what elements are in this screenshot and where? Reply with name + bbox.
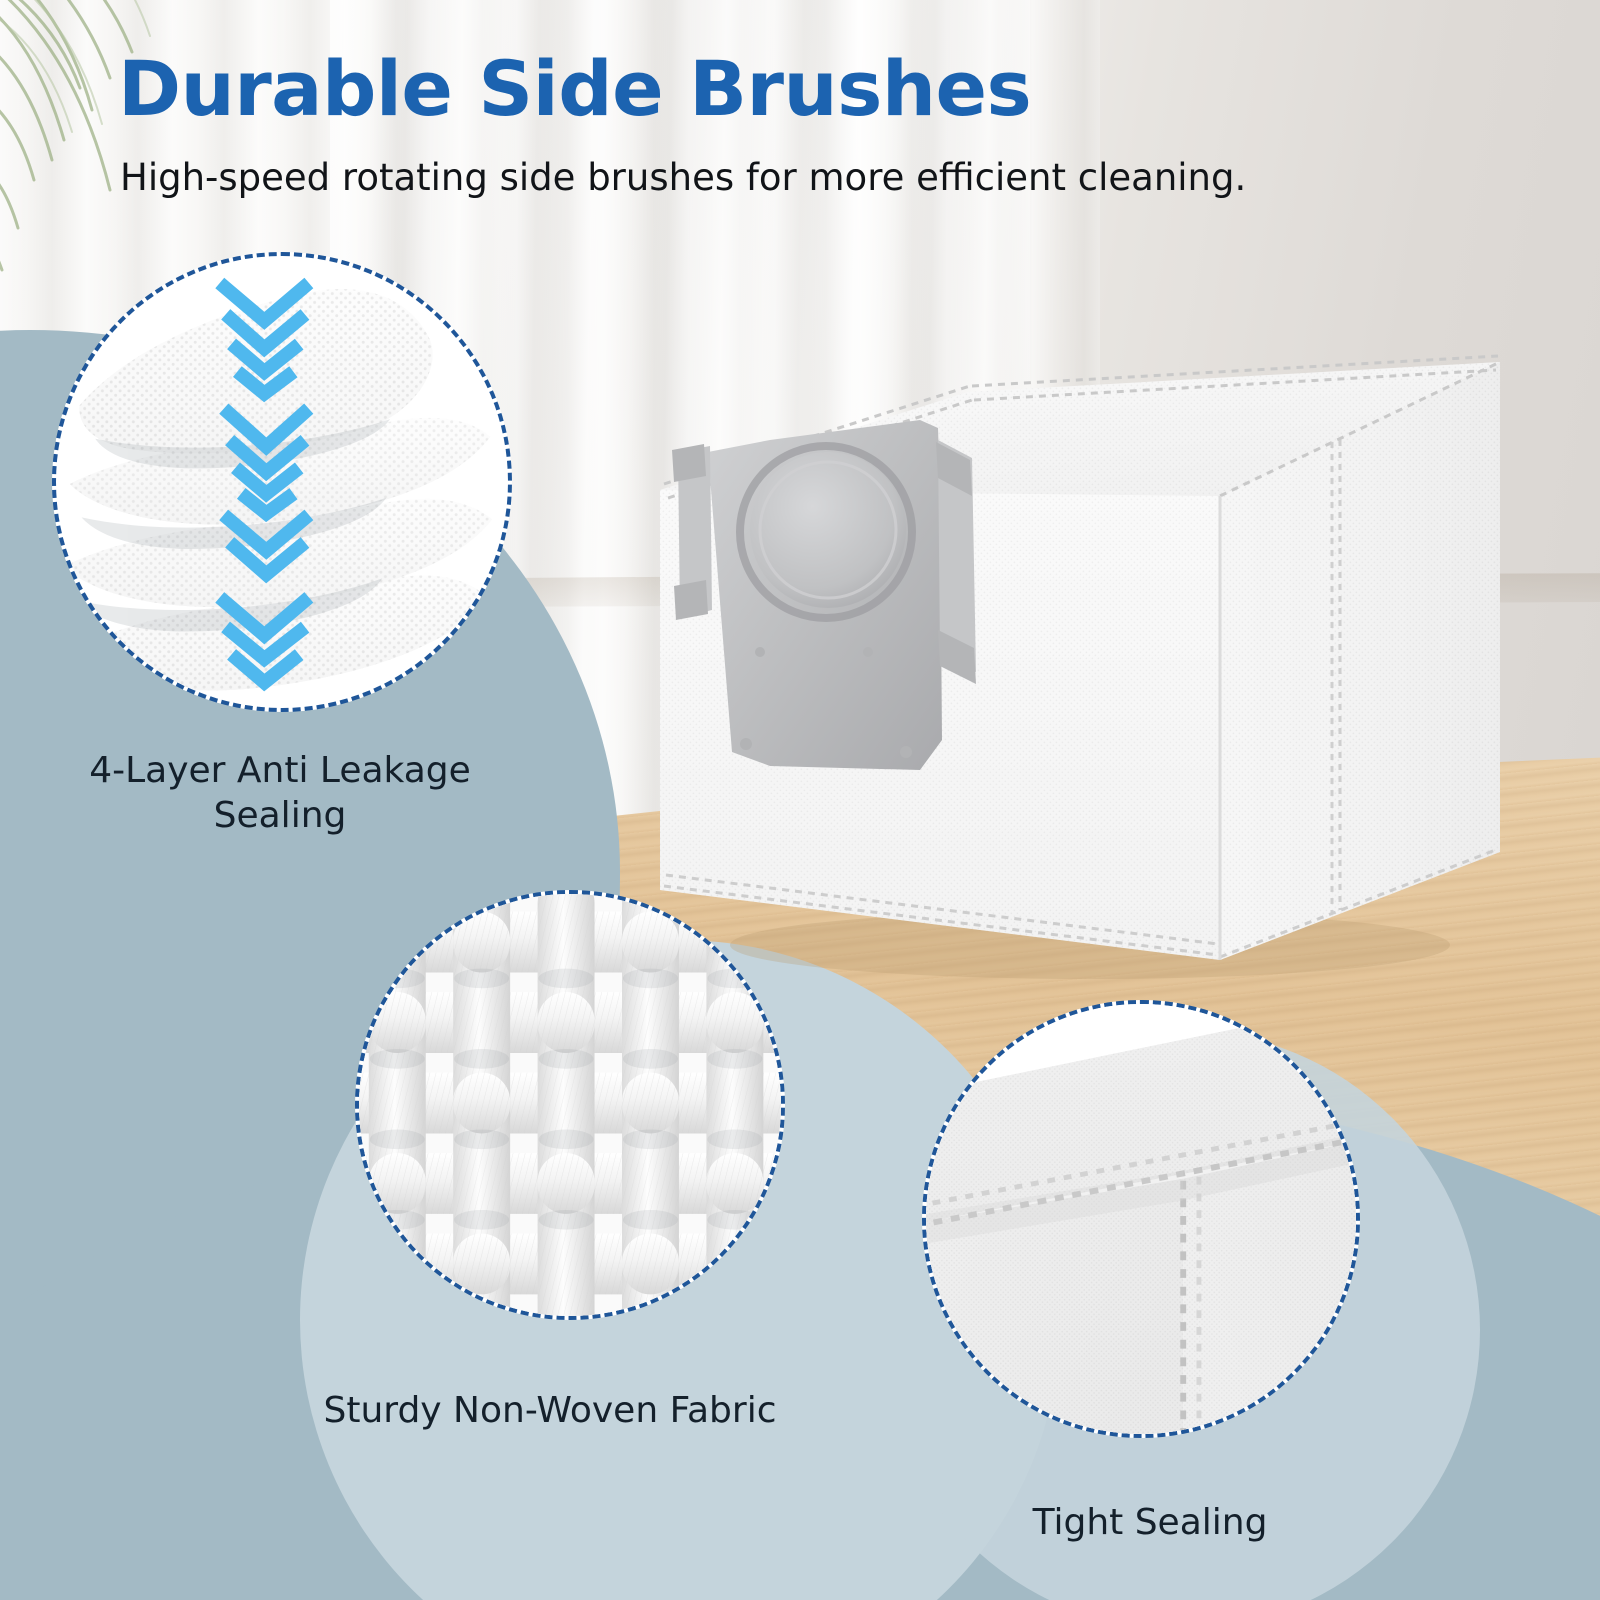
page-title: Durable Side Brushes xyxy=(118,44,1031,133)
infographic-canvas: Durable Side Brushes High-speed rotating… xyxy=(0,0,1600,1600)
page-subtitle: High-speed rotating side brushes for mor… xyxy=(120,156,1246,199)
feature-caption-non-woven-fabric: Sturdy Non-Woven Fabric xyxy=(320,1388,780,1433)
feature-circle-tight-sealing xyxy=(922,1000,1360,1438)
feature-circle-non-woven-fabric xyxy=(355,890,785,1320)
woven-fabric-texture-illustration xyxy=(359,894,781,1316)
feature-caption-four-layer-sealing: 4-Layer Anti Leakage Sealing xyxy=(35,748,525,839)
feature-circle-four-layer-sealing xyxy=(52,252,512,712)
stitched-seam-closeup-illustration xyxy=(926,1004,1356,1434)
feature-caption-tight-sealing: Tight Sealing xyxy=(940,1500,1360,1545)
stacked-fabric-layers-illustration xyxy=(56,256,508,708)
